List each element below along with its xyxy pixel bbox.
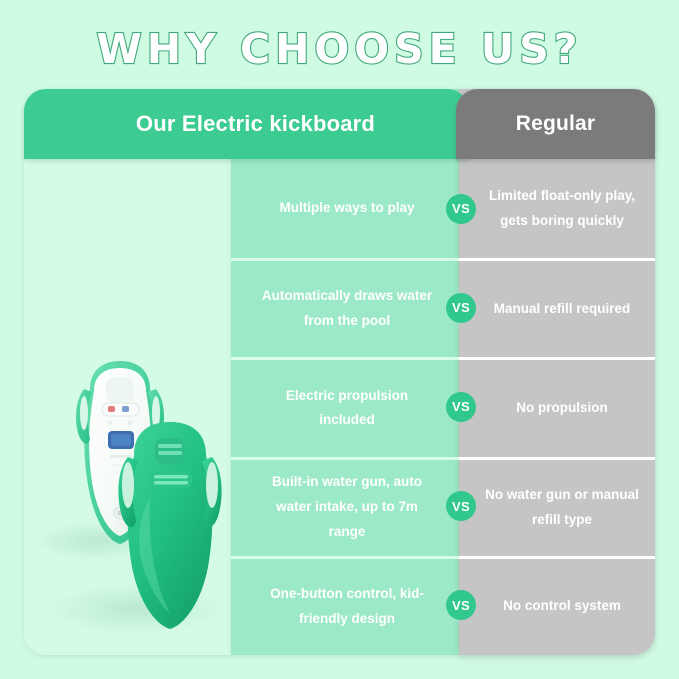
vs-badge: VS bbox=[446, 491, 476, 521]
ours-cell: Multiple ways to play bbox=[231, 159, 459, 258]
header-regular-label: Regular bbox=[516, 112, 596, 136]
product-image-panel bbox=[24, 89, 231, 655]
vs-badge: VS bbox=[446, 590, 476, 620]
ours-cell: One-button control, kid-friendly design bbox=[231, 556, 459, 655]
regular-cell: Manual refill required bbox=[459, 258, 655, 357]
vs-badge: VS bbox=[446, 293, 476, 323]
ours-cell: Electric propulsion included bbox=[231, 357, 459, 456]
comparison-table: Our Electric kickboard Regular Multiple … bbox=[24, 89, 655, 655]
regular-cell: No water gun or manual refill type bbox=[459, 457, 655, 556]
header-ours: Our Electric kickboard bbox=[24, 89, 469, 159]
vs-badge: VS bbox=[446, 194, 476, 224]
comparison-rows: Multiple ways to play VS Limited float-o… bbox=[231, 159, 655, 655]
regular-cell: Limited float-only play, gets boring qui… bbox=[459, 159, 655, 258]
table-row: Multiple ways to play VS Limited float-o… bbox=[231, 159, 655, 258]
page-title: WHY CHOOSE US? bbox=[96, 25, 582, 73]
header-ours-label: Our Electric kickboard bbox=[118, 111, 375, 137]
regular-cell: No propulsion bbox=[459, 357, 655, 456]
ours-cell: Automatically draws water from the pool bbox=[231, 258, 459, 357]
table-row: Automatically draws water from the pool … bbox=[231, 258, 655, 357]
vs-badge: VS bbox=[446, 392, 476, 422]
regular-cell: No control system bbox=[459, 556, 655, 655]
product-illustration bbox=[24, 89, 231, 655]
ours-cell: Built-in water gun, auto water intake, u… bbox=[231, 457, 459, 556]
table-row: Electric propulsion included VS No propu… bbox=[231, 357, 655, 456]
table-row: Built-in water gun, auto water intake, u… bbox=[231, 457, 655, 556]
table-row: One-button control, kid-friendly design … bbox=[231, 556, 655, 655]
page-title-banner: WHY CHOOSE US? bbox=[0, 18, 679, 80]
header-regular: Regular bbox=[456, 89, 655, 159]
